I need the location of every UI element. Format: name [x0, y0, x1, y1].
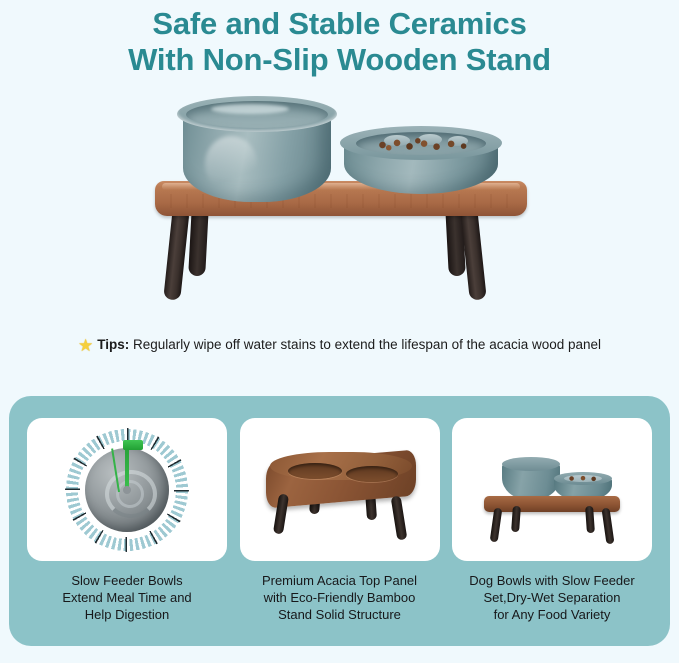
slow-feeder-bowl-icon — [340, 126, 502, 198]
stand-leg-icon — [390, 495, 407, 540]
tips-label: Tips: — [97, 337, 129, 352]
deep-water-bowl-icon — [177, 96, 337, 202]
feature-item: Premium Acacia Top Panel with Eco-Friend… — [240, 418, 440, 623]
title-line-1: Safe and Stable Ceramics — [0, 6, 679, 42]
caption-line: Set,Dry-Wet Separation — [452, 589, 652, 606]
tips-line: ★Tips: Regularly wipe off water stains t… — [0, 335, 679, 356]
caption-line: Dog Bowls with Slow Feeder — [452, 572, 652, 589]
feature-caption: Slow Feeder Bowls Extend Meal Time and H… — [27, 572, 227, 623]
feature-item: Slow Feeder Bowls Extend Meal Time and H… — [27, 418, 227, 623]
hero-product-image — [0, 86, 679, 331]
set-wood-panel-icon — [484, 496, 620, 512]
page-title: Safe and Stable Ceramics With Non-Slip W… — [0, 0, 679, 78]
feature-item: Dog Bowls with Slow Feeder Set,Dry-Wet S… — [452, 418, 652, 623]
caption-line: Slow Feeder Bowls — [27, 572, 227, 589]
kibble-food-icon — [370, 138, 474, 152]
slow-feeder-timer-dial-icon — [65, 428, 189, 552]
dog-bowl-stand-illustration — [135, 86, 545, 331]
wood-slab-surface — [270, 452, 412, 480]
stand-leg-front-left-icon — [163, 207, 190, 300]
feature-card-acacia-panel — [240, 418, 440, 561]
caption-line: Premium Acacia Top Panel — [240, 572, 440, 589]
deep-bowl-interior-highlight — [211, 104, 289, 114]
feature-panel: Slow Feeder Bowls Extend Meal Time and H… — [9, 396, 670, 646]
bowl-recess — [346, 466, 398, 482]
deep-bowl-highlight — [205, 136, 257, 192]
tips-text: Regularly wipe off water stains to exten… — [133, 337, 601, 352]
set-deep-bowl-icon — [502, 462, 560, 500]
stand-leg-back-left-icon — [188, 206, 209, 277]
caption-line: Help Digestion — [27, 606, 227, 623]
set-leg-icon — [490, 508, 503, 543]
green-flag-icon — [123, 440, 143, 450]
set-leg-icon — [602, 508, 615, 545]
stand-leg-front-right-icon — [460, 207, 487, 300]
feature-card-list: Slow Feeder Bowls Extend Meal Time and H… — [27, 418, 652, 623]
dog-bowl-set-icon — [482, 444, 624, 544]
caption-line: with Eco-Friendly Bamboo — [240, 589, 440, 606]
caption-line: Extend Meal Time and — [27, 589, 227, 606]
set-leg-icon — [511, 506, 521, 532]
caption-line: for Any Food Variety — [452, 606, 652, 623]
feature-card-bowl-set — [452, 418, 652, 561]
acacia-wood-stand-icon — [266, 448, 416, 538]
bowl-recess — [288, 463, 342, 479]
star-icon: ★ — [78, 336, 93, 355]
title-line-2: With Non-Slip Wooden Stand — [0, 42, 679, 78]
feature-caption: Premium Acacia Top Panel with Eco-Friend… — [240, 572, 440, 623]
dial-hub — [123, 486, 131, 494]
caption-line: Stand Solid Structure — [240, 606, 440, 623]
feature-card-slow-feeder — [27, 418, 227, 561]
feature-caption: Dog Bowls with Slow Feeder Set,Dry-Wet S… — [452, 572, 652, 623]
